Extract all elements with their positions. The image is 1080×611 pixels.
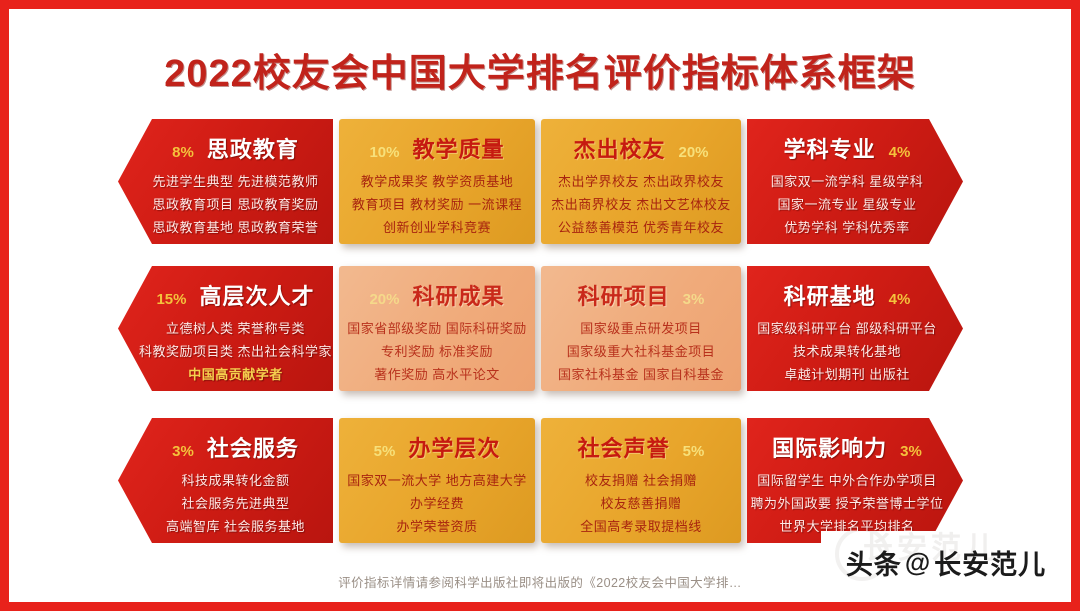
watermark-account: 长安范儿	[934, 543, 1046, 582]
card-item: 科教奖励项目类 杰出社会科学家	[139, 341, 332, 360]
indicator-card[interactable]: 高层次人才15%立德树人类 荣誉称号类科教奖励项目类 杰出社会科学家中国高贡献学…	[118, 266, 333, 391]
card-header: 科研基地4%	[761, 279, 933, 311]
card-item: 优势学科 学科优秀率	[784, 217, 910, 236]
card-item-list: 杰出学界校友 杰出政界校友杰出商界校友 杰出文艺体校友公益慈善模范 优秀青年校友	[555, 171, 727, 236]
card-header: 高层次人才15%	[152, 279, 319, 311]
card-item: 国家省部级奖励 国际科研奖励	[347, 318, 527, 337]
card-item: 中国高贡献学者	[188, 364, 283, 383]
card-item-list: 国家省部级奖励 国际科研奖励专利奖励 标准奖励著作奖励 高水平论文	[353, 318, 521, 383]
card-category-label: 办学层次	[408, 431, 500, 463]
card-header: 社会声誉5%	[555, 431, 727, 463]
card-item: 办学经费	[410, 493, 464, 512]
card-weight-percent: 3%	[900, 443, 922, 460]
indicator-card[interactable]: 国际影响力3%国际留学生 中外合作办学项目聘为外国政要 授予荣誉博士学位世界大学…	[747, 418, 963, 543]
card-weight-percent: 20%	[369, 291, 399, 308]
card-category-label: 教学质量	[413, 132, 505, 164]
indicator-card[interactable]: 教学质量10%教学成果奖 教学资质基地教育项目 教材奖励 一流课程创新创业学科竞…	[339, 119, 535, 244]
card-weight-percent: 4%	[889, 291, 911, 308]
card-header: 学科专业4%	[761, 132, 933, 164]
card-item: 校友慈善捐赠	[600, 493, 681, 512]
card-item: 杰出商界校友 杰出文艺体校友	[551, 194, 731, 213]
indicator-card[interactable]: 办学层次5%国家双一流大学 地方高建大学办学经费办学荣誉资质	[339, 418, 535, 543]
card-category-label: 科研成果	[413, 279, 505, 311]
card-item: 技术成果转化基地	[793, 341, 901, 360]
card-item: 专利奖励 标准奖励	[381, 341, 493, 360]
card-item: 高端智库 社会服务基地	[166, 516, 305, 535]
indicator-card[interactable]: 科研项目3%国家级重点研发项目国家级重大社科基金项目国家社科基金 国家自科基金	[541, 266, 741, 391]
card-item: 杰出学界校友 杰出政界校友	[558, 171, 724, 190]
card-header: 思政教育8%	[152, 132, 319, 164]
card-item: 创新创业学科竞赛	[383, 217, 491, 236]
indicator-card[interactable]: 社会服务3%科技成果转化金额社会服务先进典型高端智库 社会服务基地	[118, 418, 333, 543]
card-weight-percent: 15%	[156, 291, 186, 308]
indicator-card[interactable]: 杰出校友20%杰出学界校友 杰出政界校友杰出商界校友 杰出文艺体校友公益慈善模范…	[541, 119, 741, 244]
page-title: 2022校友会中国大学排名评价指标体系框架	[0, 42, 1080, 97]
card-header: 国际影响力3%	[761, 431, 933, 463]
card-item-list: 国家级科研平台 部级科研平台技术成果转化基地卓越计划期刊 出版社	[761, 318, 933, 383]
indicator-card[interactable]: 科研成果20%国家省部级奖励 国际科研奖励专利奖励 标准奖励著作奖励 高水平论文	[339, 266, 535, 391]
indicator-card[interactable]: 社会声誉5%校友捐赠 社会捐赠校友慈善捐赠全国高考录取提档线	[541, 418, 741, 543]
card-item: 卓越计划期刊 出版社	[784, 364, 910, 383]
card-weight-percent: 3%	[683, 291, 705, 308]
card-item: 公益慈善模范 优秀青年校友	[558, 217, 724, 236]
card-item: 先进学生典型 先进模范教师	[152, 171, 318, 190]
card-item: 国际留学生 中外合作办学项目	[757, 470, 937, 489]
card-item: 国家级科研平台 部级科研平台	[757, 318, 937, 337]
watermark-at-symbol: @	[905, 547, 931, 578]
card-item: 国家双一流大学 地方高建大学	[347, 470, 527, 489]
indicator-grid: 思政教育8%先进学生典型 先进模范教师思政教育项目 思政教育奖励思政教育基地 思…	[118, 119, 963, 558]
card-item: 国家社科基金 国家自科基金	[558, 364, 724, 383]
card-item: 全国高考录取提档线	[580, 516, 702, 535]
card-header: 科研项目3%	[555, 279, 727, 311]
card-weight-percent: 5%	[374, 443, 396, 460]
card-category-label: 思政教育	[207, 132, 299, 164]
card-item-list: 立德树人类 荣誉称号类科教奖励项目类 杰出社会科学家中国高贡献学者	[152, 318, 319, 383]
card-header: 教学质量10%	[353, 132, 521, 164]
card-weight-percent: 8%	[172, 144, 194, 161]
card-category-label: 科研基地	[784, 279, 876, 311]
card-weight-percent: 5%	[683, 443, 705, 460]
card-item: 社会服务先进典型	[181, 493, 289, 512]
card-item-list: 教学成果奖 教学资质基地教育项目 教材奖励 一流课程创新创业学科竞赛	[353, 171, 521, 236]
card-category-label: 高层次人才	[200, 279, 315, 311]
card-item: 立德树人类 荣誉称号类	[166, 318, 305, 337]
card-weight-percent: 4%	[889, 144, 911, 161]
watermark-platform: 头条	[846, 543, 902, 582]
card-item: 办学荣誉资质	[396, 516, 477, 535]
card-item-list: 国际留学生 中外合作办学项目聘为外国政要 授予荣誉博士学位世界大学排名平均排名	[761, 470, 933, 535]
indicator-card[interactable]: 思政教育8%先进学生典型 先进模范教师思政教育项目 思政教育奖励思政教育基地 思…	[118, 119, 333, 244]
card-category-label: 社会服务	[207, 431, 299, 463]
card-item: 科技成果转化金额	[181, 470, 289, 489]
card-item: 国家级重点研发项目	[580, 318, 702, 337]
card-item: 教学成果奖 教学资质基地	[361, 171, 514, 190]
card-item: 聘为外国政要 授予荣誉博士学位	[750, 493, 943, 512]
card-header: 办学层次5%	[353, 431, 521, 463]
card-weight-percent: 3%	[172, 443, 194, 460]
card-header: 科研成果20%	[353, 279, 521, 311]
card-item: 思政教育项目 思政教育奖励	[152, 194, 318, 213]
card-category-label: 科研项目	[578, 279, 670, 311]
card-item-list: 国家双一流学科 星级学科国家一流专业 星级专业优势学科 学科优秀率	[761, 171, 933, 236]
card-item: 思政教育基地 思政教育荣誉	[152, 217, 318, 236]
card-item: 著作奖励 高水平论文	[374, 364, 500, 383]
card-header: 社会服务3%	[152, 431, 319, 463]
card-item: 国家双一流学科 星级学科	[771, 171, 924, 190]
indicator-card[interactable]: 学科专业4%国家双一流学科 星级学科国家一流专业 星级专业优势学科 学科优秀率	[747, 119, 963, 244]
indicator-row: 思政教育8%先进学生典型 先进模范教师思政教育项目 思政教育奖励思政教育基地 思…	[118, 119, 963, 244]
card-item-list: 校友捐赠 社会捐赠校友慈善捐赠全国高考录取提档线	[555, 470, 727, 535]
indicator-row: 高层次人才15%立德树人类 荣誉称号类科教奖励项目类 杰出社会科学家中国高贡献学…	[118, 266, 963, 394]
card-item: 校友捐赠 社会捐赠	[585, 470, 697, 489]
card-item-list: 国家双一流大学 地方高建大学办学经费办学荣誉资质	[353, 470, 521, 535]
card-weight-percent: 20%	[678, 144, 708, 161]
infographic-page: 2022校友会中国大学排名评价指标体系框架 思政教育8%先进学生典型 先进模范教…	[0, 0, 1080, 611]
card-item-list: 国家级重点研发项目国家级重大社科基金项目国家社科基金 国家自科基金	[555, 318, 727, 383]
indicator-card[interactable]: 科研基地4%国家级科研平台 部级科研平台技术成果转化基地卓越计划期刊 出版社	[747, 266, 963, 391]
card-header: 杰出校友20%	[555, 132, 727, 164]
card-category-label: 国际影响力	[772, 431, 887, 463]
card-item-list: 先进学生典型 先进模范教师思政教育项目 思政教育奖励思政教育基地 思政教育荣誉	[152, 171, 319, 236]
card-weight-percent: 10%	[369, 144, 399, 161]
card-category-label: 社会声誉	[578, 431, 670, 463]
watermark-text: 头条 @ 长安范儿	[846, 543, 1046, 582]
indicator-row: 社会服务3%科技成果转化金额社会服务先进典型高端智库 社会服务基地办学层次5%国…	[118, 418, 963, 536]
card-item: 国家级重大社科基金项目	[567, 341, 716, 360]
card-category-label: 杰出校友	[573, 132, 665, 164]
card-item: 国家一流专业 星级专业	[777, 194, 916, 213]
card-item-list: 科技成果转化金额社会服务先进典型高端智库 社会服务基地	[152, 470, 319, 535]
card-category-label: 学科专业	[784, 132, 876, 164]
card-item: 教育项目 教材奖励 一流课程	[352, 194, 522, 213]
watermark: 长安范儿 头条 @ 长安范儿	[821, 531, 1071, 593]
